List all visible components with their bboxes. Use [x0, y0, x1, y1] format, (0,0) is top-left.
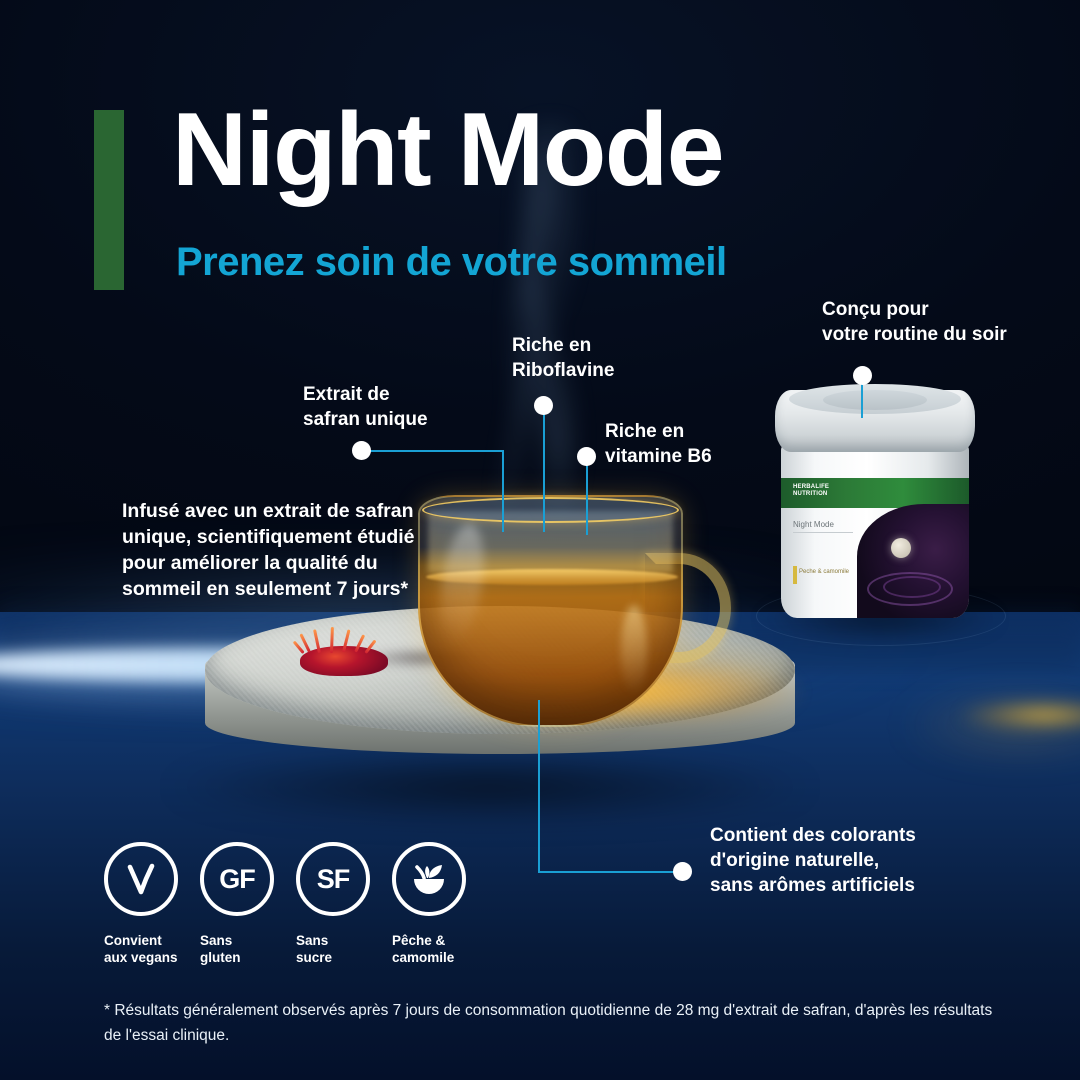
- saffron-threads: [292, 630, 398, 678]
- jar-body: HERBALIFE NUTRITION Night Mode Peche & c…: [781, 442, 969, 618]
- badge-vegan: Convient aux vegans: [104, 842, 182, 966]
- callout-vitamin-b6-dot: [577, 447, 596, 466]
- callout-vitamin-b6-line2: vitamine B6: [605, 444, 712, 469]
- cup-rim: [422, 497, 679, 523]
- callout-saffron-extract-line-v: [502, 450, 504, 532]
- jar-product-name: Night Mode: [793, 520, 834, 529]
- footnote-disclaimer: * Résultats généralement observés après …: [104, 998, 1004, 1048]
- jar-lid-top-inner: [823, 390, 927, 410]
- callout-evening-routine: Conçu pour votre routine du soir: [822, 297, 1007, 347]
- vegan-v-icon: [104, 842, 178, 916]
- callout-saffron-extract-line2: safran unique: [303, 407, 428, 432]
- callout-vitamin-b6: Riche en vitamine B6: [605, 419, 712, 469]
- callout-natural-colours-dot: [673, 862, 692, 881]
- badge-gluten-free-symbol: GF: [219, 864, 255, 895]
- callout-natural-colours-line3: sans arômes artificiels: [710, 873, 916, 898]
- callout-evening-routine-line2: votre routine du soir: [822, 322, 1007, 347]
- badge-vegan-caption: Convient aux vegans: [104, 932, 182, 966]
- callout-evening-routine-dot: [853, 366, 872, 385]
- jar-brand-logo: HERBALIFE NUTRITION: [793, 484, 829, 498]
- callout-saffron-extract-line1: Extrait de: [303, 382, 428, 407]
- callout-riboflavin-line-v: [543, 404, 545, 532]
- bowl-herbs-icon: [392, 842, 466, 916]
- callout-vitamin-b6-line-v: [586, 463, 588, 535]
- callout-saffron-extract: Extrait de safran unique: [303, 382, 428, 432]
- jar-divider: [793, 532, 853, 533]
- callout-natural-colours: Contient des colorants d'origine naturel…: [710, 823, 916, 898]
- gluten-free-icon: GF: [200, 842, 274, 916]
- jar-moon-graphic: [891, 538, 911, 558]
- jar-swirl-graphic-inner: [883, 576, 941, 598]
- callout-natural-colours-line-v: [538, 700, 540, 872]
- badge-sugar-free: SF Sans sucre: [296, 842, 374, 966]
- body-paragraph: Infusé avec un extrait de safran unique,…: [122, 498, 452, 602]
- callout-riboflavin-dot: [534, 396, 553, 415]
- sugar-free-icon: SF: [296, 842, 370, 916]
- callout-natural-colours-line-h: [538, 871, 688, 873]
- badge-peach-chamomile: Pêche & camomile: [392, 842, 470, 966]
- night-mode-product-infographic: HERBALIFE NUTRITION Night Mode Peche & c…: [0, 0, 1080, 1080]
- certification-badges: Convient aux vegans GF Sans gluten SF Sa…: [104, 842, 504, 972]
- callout-vitamin-b6-line1: Riche en: [605, 419, 712, 444]
- badge-gluten-free-caption: Sans gluten: [200, 932, 278, 966]
- callout-evening-routine-line1: Conçu pour: [822, 297, 1007, 322]
- page-subtitle: Prenez soin de votre sommeil: [176, 240, 727, 285]
- cup-highlight-right: [621, 605, 647, 695]
- badge-peach-chamomile-caption: Pêche & camomile: [392, 932, 470, 966]
- badge-sugar-free-symbol: SF: [317, 864, 350, 895]
- accent-bar: [94, 110, 124, 290]
- callout-riboflavin: Riche en Riboflavine: [512, 333, 614, 383]
- callout-saffron-extract-dot: [352, 441, 371, 460]
- callout-natural-colours-line1: Contient des colorants: [710, 823, 916, 848]
- badge-gluten-free: GF Sans gluten: [200, 842, 278, 966]
- badge-sugar-free-caption: Sans sucre: [296, 932, 374, 966]
- callout-riboflavin-line1: Riche en: [512, 333, 614, 358]
- page-title: Night Mode: [172, 96, 723, 205]
- callout-natural-colours-line2: d'origine naturelle,: [710, 848, 916, 873]
- jar-flavor-label: Peche & camomile: [799, 568, 849, 576]
- callout-saffron-extract-line-h: [368, 450, 504, 452]
- callout-riboflavin-line2: Riboflavine: [512, 358, 614, 383]
- glass-tea-cup: [418, 495, 683, 727]
- cup-body: [418, 495, 683, 727]
- product-jar: HERBALIFE NUTRITION Night Mode Peche & c…: [775, 390, 975, 620]
- jar-flavor-accent: [793, 566, 797, 584]
